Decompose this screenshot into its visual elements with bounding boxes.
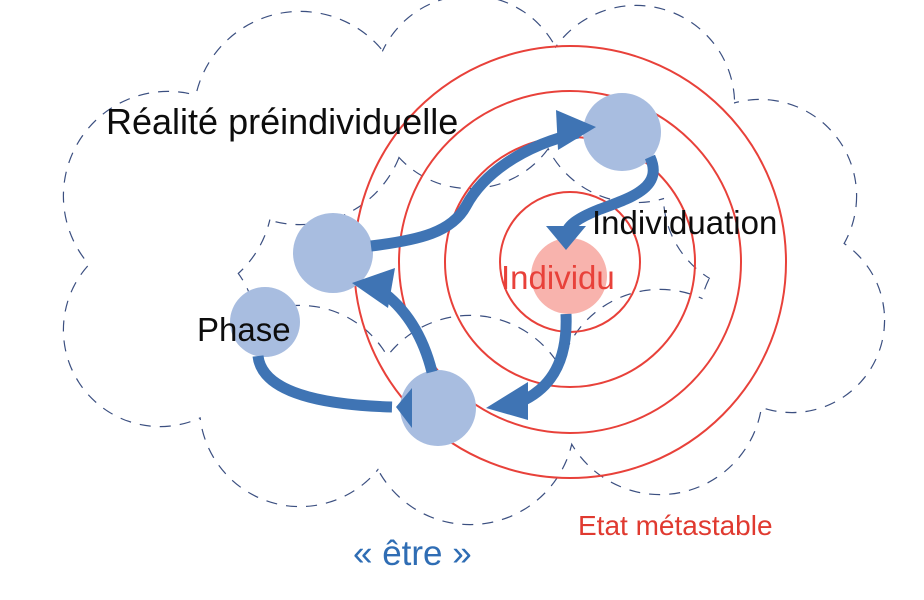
arrow-phase-to-bottom-node: [258, 356, 392, 407]
label-preindividual-reality: Réalité préindividuelle: [106, 101, 458, 142]
cloud-lobe: [664, 100, 856, 292]
cloud-lobe: [700, 228, 884, 412]
preindividual-reality-cloud: [64, 0, 884, 524]
label-individuation: Individuation: [592, 204, 777, 241]
label-phase: Phase: [197, 311, 291, 348]
label-individu: Individu: [501, 259, 615, 296]
diagram-canvas: Réalité préindividuelle Individuation In…: [0, 0, 924, 600]
individuation-diagram: Réalité préindividuelle Individuation In…: [0, 0, 924, 600]
label-metastable-state: Etat métastable: [578, 510, 773, 541]
label-being: « être »: [353, 534, 472, 573]
